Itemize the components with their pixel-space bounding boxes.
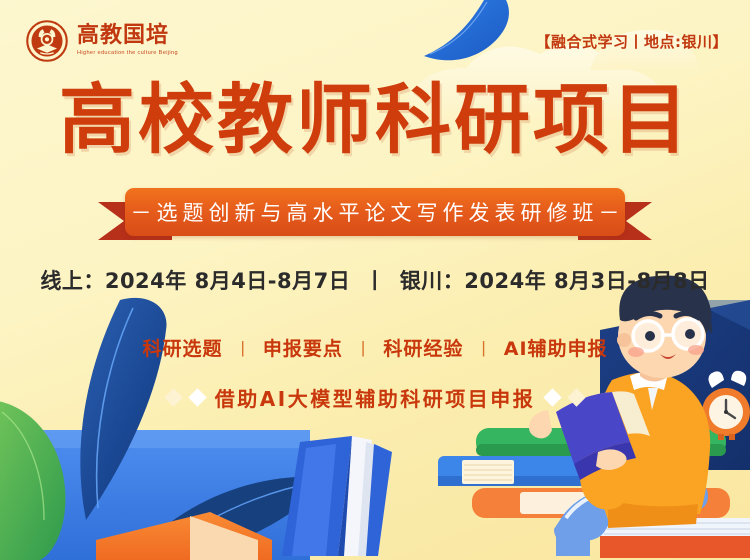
feature-item-ai: AI辅助申报: [504, 334, 608, 361]
onsite-date: 2024年 8月3日-8月8日: [464, 269, 709, 293]
brand-name-en: Higher education the culture Beijing: [77, 51, 178, 57]
diamond-decoration-icon: [568, 388, 586, 406]
ribbon-text: －选题创新与高水平论文写作发表研修班－: [126, 197, 625, 227]
brand-name-cn: 高教国培: [77, 25, 178, 47]
subtitle-row: 借助AI大模型辅助科研项目申报: [0, 383, 750, 412]
online-date: 2024年 8月4日-8月7日: [105, 269, 350, 293]
feature-list: 科研选题 | 申报要点 | 科研经验 | AI辅助申报: [0, 334, 750, 361]
feature-separator: |: [481, 338, 485, 358]
ribbon-body: －选题创新与高水平论文写作发表研修班－: [125, 188, 625, 236]
feature-item-topic: 科研选题: [142, 334, 222, 361]
diamond-decoration-icon: [544, 388, 562, 406]
promo-banner: 高教国培 Higher education the culture Beijin…: [0, 0, 750, 560]
diamond-decoration-icon: [164, 388, 182, 406]
academy-seal-icon: [26, 20, 68, 62]
date-separator: 丨: [364, 269, 386, 293]
subtitle-text: 借助AI大模型辅助科研项目申报: [215, 383, 535, 412]
ribbon-banner: －选题创新与高水平论文写作发表研修班－: [0, 188, 750, 242]
leaf-decoration-icon: [0, 400, 65, 560]
feature-separator: |: [361, 338, 365, 358]
feature-item-experience: 科研经验: [383, 334, 463, 361]
feature-item-application: 申报要点: [263, 334, 343, 361]
online-label: 线上：: [40, 269, 105, 293]
onsite-label: 银川：: [400, 269, 465, 293]
page-title: 高校教师科研项目: [0, 82, 750, 158]
header-tag: 【融合式学习丨地点:银川】: [536, 31, 729, 52]
banner-header: 高教国培 Higher education the culture Beijin…: [0, 18, 750, 64]
feature-separator: |: [240, 338, 244, 358]
book-stack-icon: [282, 436, 392, 556]
brand-logo[interactable]: 高教国培 Higher education the culture Beijin…: [26, 20, 178, 62]
brand-wordmark: 高教国培 Higher education the culture Beijin…: [77, 25, 178, 57]
diamond-decoration-icon: [188, 388, 206, 406]
session-dates: 线上：2024年 8月4日-8月7日丨银川：2024年 8月3日-8月8日: [0, 265, 750, 295]
